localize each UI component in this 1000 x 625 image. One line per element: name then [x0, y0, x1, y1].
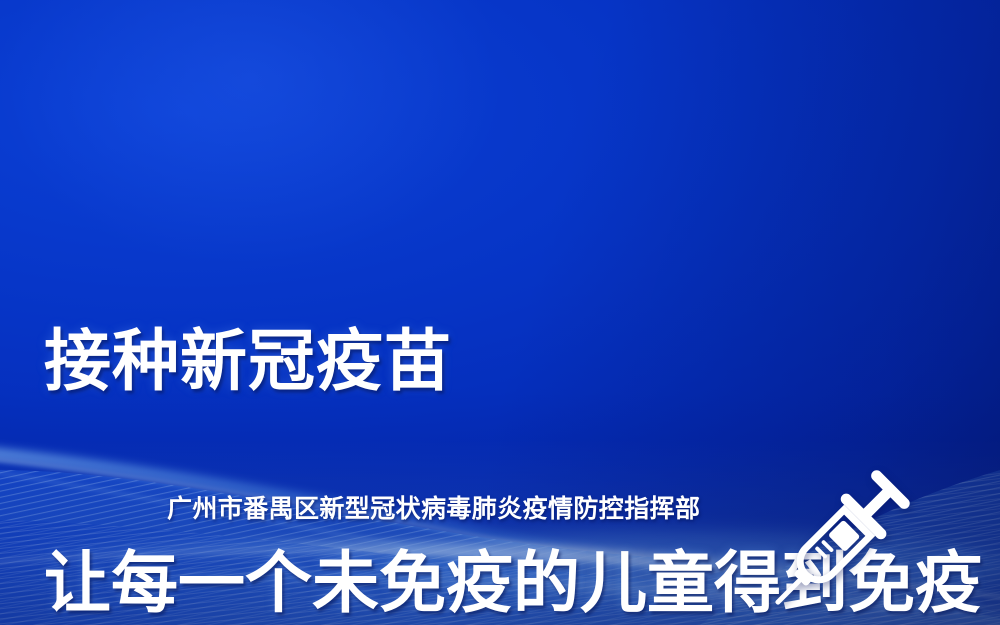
syringe-icon-glyph: [762, 458, 922, 618]
footer-organization: 广州市番禺区新型冠状病毒肺炎疫情防控指挥部: [167, 494, 700, 524]
syringe-icon: [762, 458, 922, 618]
headline-line-1: 接种新冠疫苗: [44, 324, 974, 398]
vaccination-poster: 接种新冠疫苗 让每一个未免疫的儿童得到免疫 广州市番禺区新型冠状病毒肺炎疫情防控…: [0, 0, 1000, 625]
